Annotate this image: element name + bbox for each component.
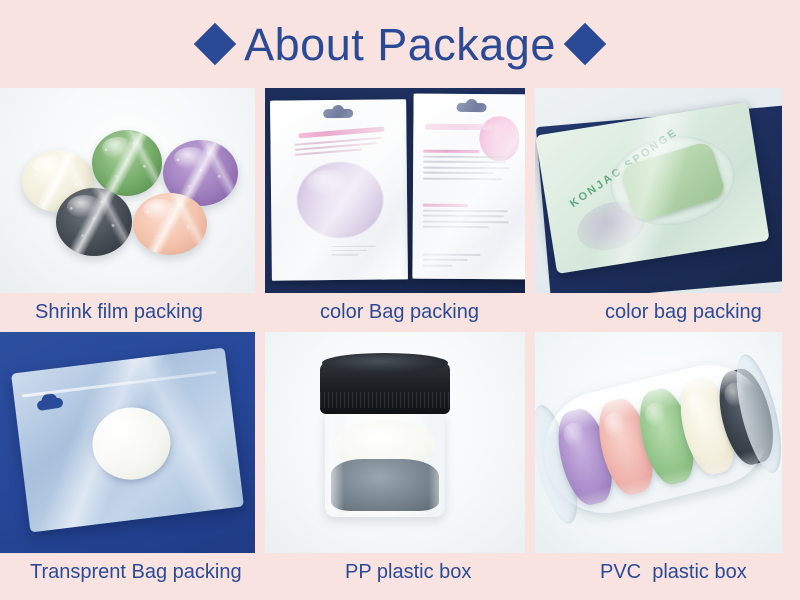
- photo-right-margin: [782, 88, 800, 293]
- photo-pp-plastic-box: [265, 332, 525, 553]
- bag-frosted-film: [412, 94, 525, 280]
- caption-transparent-bag-packing: Transprent Bag packing: [0, 561, 265, 584]
- photo-right-margin: [782, 332, 800, 553]
- gallery-row-1: KONJAC SPONGE: [0, 88, 800, 293]
- photo-image: [265, 332, 525, 553]
- jar-highlight: [325, 412, 445, 517]
- photo-gutter: [525, 332, 535, 553]
- retail-bag-back: [412, 94, 525, 280]
- lid-ridges: [320, 392, 450, 408]
- photo-color-bag-packing-window: KONJAC SPONGE: [535, 88, 782, 293]
- photo-shrink-film-packing: [0, 88, 255, 293]
- pp-jar-lid: [320, 362, 450, 414]
- photo-image: [0, 88, 255, 293]
- package-infographic: About Package: [0, 0, 800, 600]
- caption-shrink-film-packing: Shrink film packing: [0, 301, 265, 324]
- sponge-green: [92, 130, 162, 196]
- caption-pp-plastic-box: PP plastic box: [265, 561, 535, 584]
- photo-image: [535, 332, 782, 553]
- sponge-black: [56, 188, 132, 256]
- caption-row-2: Transprent Bag packing PP plastic box PV…: [0, 553, 800, 592]
- page-title: About Package: [244, 22, 556, 67]
- photo-color-bag-packing-front-back: [265, 88, 525, 293]
- bag-frosted-film: [270, 99, 408, 280]
- photo-gutter: [525, 88, 535, 293]
- caption-color-bag-packing-window: color bag packing: [535, 301, 800, 324]
- diamond-left-icon: [194, 23, 236, 65]
- photo-image: [265, 88, 525, 293]
- photo-transparent-bag-packing: [0, 332, 255, 553]
- photo-gutter: [255, 332, 265, 553]
- caption-color-bag-packing: color Bag packing: [265, 301, 535, 324]
- transparent-zip-bag: [11, 347, 244, 532]
- page-header: About Package: [0, 0, 800, 88]
- photo-image: KONJAC SPONGE: [535, 88, 782, 293]
- bag-folds: [11, 347, 244, 532]
- photo-image: [0, 332, 255, 553]
- retail-bag-front: [270, 99, 408, 280]
- photo-pvc-plastic-box: [535, 332, 782, 553]
- gallery-row-2: [0, 332, 800, 553]
- diamond-right-icon: [564, 23, 606, 65]
- caption-row-1: Shrink film packing color Bag packing co…: [0, 293, 800, 332]
- pp-jar-body: [325, 412, 445, 517]
- photo-gutter: [255, 88, 265, 293]
- sponge-pink: [133, 193, 207, 255]
- caption-pvc-plastic-box: PVC plastic box: [535, 561, 800, 584]
